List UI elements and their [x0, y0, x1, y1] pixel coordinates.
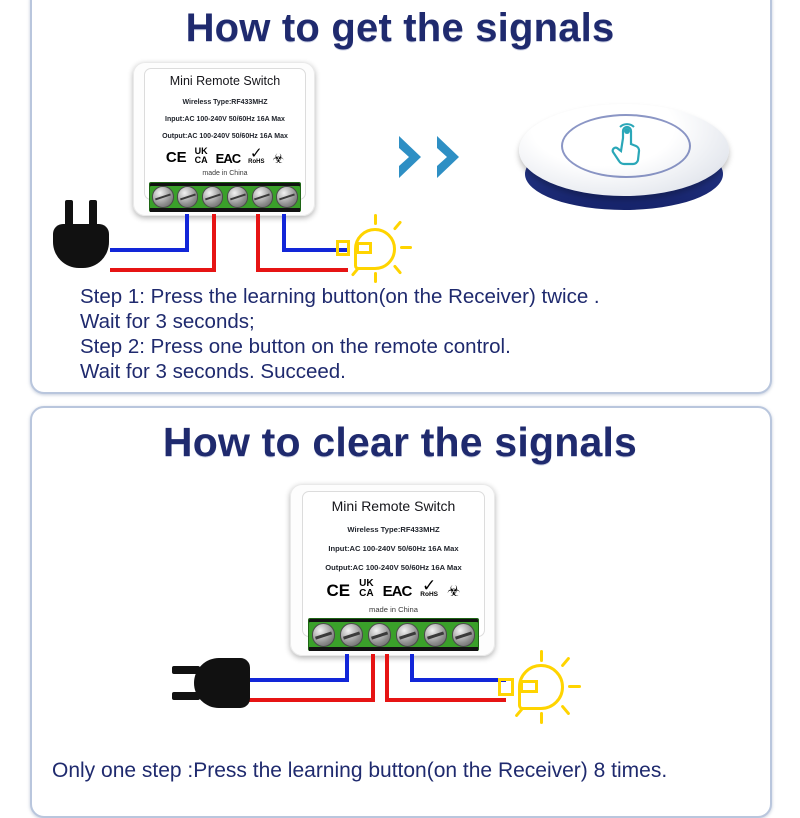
terminal-screw — [312, 623, 336, 647]
mains-plug-top — [47, 200, 113, 272]
ukca-mark: UK CA — [195, 147, 208, 165]
chevron-right-icon — [395, 132, 487, 182]
bulb-ray — [540, 712, 543, 724]
terminal-screw — [396, 623, 420, 647]
bulb-ray — [568, 685, 581, 688]
wire-neutral-left — [110, 248, 189, 252]
wire-live-left — [248, 698, 375, 702]
instructions-clear-signals: Only one step :Press the learning button… — [52, 758, 667, 783]
origin-text: made in China — [145, 170, 305, 177]
wireless-remote-button[interactable] — [517, 98, 732, 216]
bulb-base — [498, 678, 514, 696]
bulb-ray — [351, 266, 360, 276]
eac-mark: EAC — [216, 152, 240, 165]
device-spec-input: Input:AC 100-240V 50/60Hz 16A Max — [303, 544, 483, 553]
wire-neutral-left — [248, 678, 349, 682]
mains-plug-bottom — [172, 658, 252, 710]
rohs-mark: ✓ RoHS — [248, 148, 264, 165]
light-bulb-bottom — [492, 650, 584, 722]
device-label-face: Mini Remote Switch Wireless Type:RF433MH… — [144, 68, 306, 199]
device-spec-output: Output:AC 100-240V 50/60Hz 16A Max — [303, 563, 483, 572]
touch-finger-icon — [609, 122, 643, 166]
certification-marks: CE UK CA EAC ✓ RoHS ☣ — [145, 147, 305, 165]
weee-bin-icon: ☣ — [447, 584, 460, 599]
bulb-ray — [560, 704, 570, 715]
device-spec-output: Output:AC 100-240V 50/60Hz 16A Max — [145, 133, 305, 140]
receiver-module-bottom: Mini Remote Switch Wireless Type:RF433MH… — [290, 484, 495, 656]
weee-bin-icon: ☣ — [272, 152, 284, 165]
wire-neutral-drop-2 — [282, 214, 286, 252]
instructions-get-signals: Step 1: Press the learning button(on the… — [80, 284, 600, 384]
terminal-screw — [276, 186, 297, 207]
bulb-filament — [520, 680, 538, 693]
wire-live-drop-2 — [385, 654, 389, 702]
terminal-block — [149, 182, 300, 212]
device-title: Mini Remote Switch — [145, 74, 305, 88]
wire-live-left — [110, 268, 216, 272]
terminal-screw — [340, 623, 364, 647]
certification-marks: CE UK CA EAC ✓ RoHS ☣ — [303, 579, 483, 599]
ce-mark: CE — [166, 150, 187, 165]
bulb-ray — [400, 246, 412, 249]
bulb-ray — [374, 272, 377, 283]
ce-mark: CE — [327, 582, 351, 599]
bulb-ray — [374, 214, 377, 225]
receiver-module-top: Mini Remote Switch Wireless Type:RF433MH… — [133, 62, 315, 216]
page-title-get-signals: How to get the signals — [0, 6, 800, 51]
plug-body — [53, 224, 109, 268]
wire-live-drop-1 — [371, 654, 375, 702]
origin-text: made in China — [303, 605, 483, 614]
plug-pin — [89, 200, 97, 226]
terminal-screw — [424, 623, 448, 647]
device-spec-wireless: Wireless Type:RF433MHZ — [303, 525, 483, 534]
device-spec-wireless: Wireless Type:RF433MHZ — [145, 99, 305, 106]
page-title-clear-signals: How to clear the signals — [0, 419, 800, 466]
wire-live-right — [385, 698, 506, 702]
device-spec-input: Input:AC 100-240V 50/60Hz 16A Max — [145, 116, 305, 123]
terminal-block — [308, 618, 478, 651]
bulb-ray — [540, 650, 543, 662]
device-label-face: Mini Remote Switch Wireless Type:RF433MH… — [302, 491, 484, 637]
terminal-screw — [177, 186, 198, 207]
terminal-screw — [202, 186, 223, 207]
terminal-screw — [252, 186, 273, 207]
plug-body — [194, 658, 250, 708]
terminal-screw — [152, 186, 173, 207]
bulb-ray — [393, 220, 402, 230]
device-title: Mini Remote Switch — [303, 498, 483, 514]
ukca-mark: UK CA — [359, 579, 373, 599]
transmission-arrows — [395, 132, 487, 182]
wire-live-drop-1 — [212, 214, 216, 272]
bulb-base — [336, 240, 350, 256]
eac-mark: EAC — [383, 584, 412, 599]
bulb-ray — [560, 656, 570, 667]
terminal-screw — [368, 623, 392, 647]
terminal-screw — [227, 186, 248, 207]
bulb-ray — [393, 264, 402, 274]
light-bulb-top — [330, 214, 414, 280]
rohs-mark: ✓ RoHS — [420, 580, 438, 599]
wire-neutral-drop-1 — [185, 214, 189, 252]
bulb-ray — [514, 706, 524, 717]
wire-live-drop-2 — [256, 214, 260, 272]
terminal-screw — [452, 623, 476, 647]
plug-pin — [65, 200, 73, 226]
bulb-filament — [356, 242, 372, 254]
